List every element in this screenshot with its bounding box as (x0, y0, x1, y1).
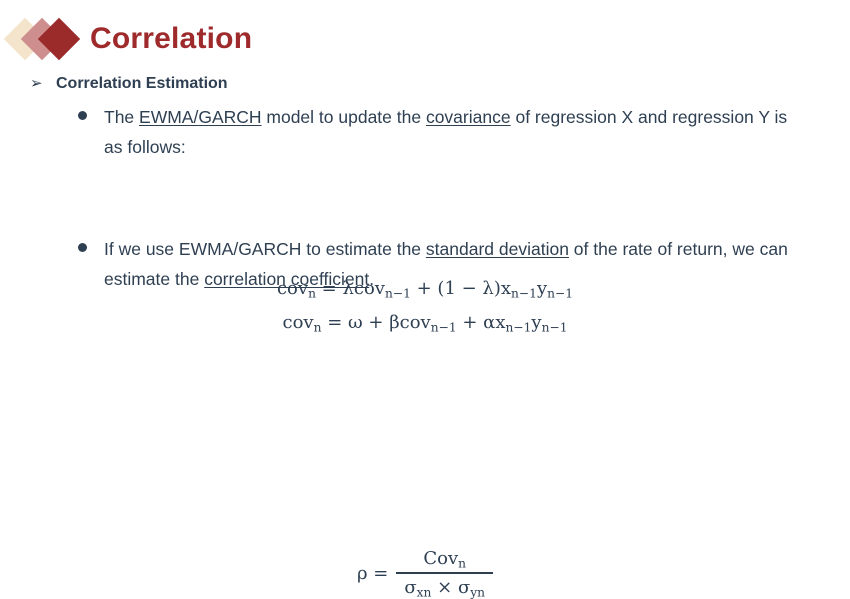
bullet-text-1: The EWMA/GARCH model to update the covar… (104, 102, 794, 162)
bullet-item-1: The EWMA/GARCH model to update the covar… (78, 102, 850, 162)
slide-header: Correlation (0, 8, 252, 70)
slide-body: ➢ Correlation Estimation The EWMA/GARCH … (0, 72, 850, 384)
equation-block-ewma-garch: covn = λcovn−1 + (1 − λ)xn−1yn−1 covn = … (0, 162, 850, 238)
round-bullet-icon (78, 102, 104, 120)
correlation-coefficient-equation: ρ = Covn σxn × σyn (0, 548, 850, 599)
fraction: Covn σxn × σyn (396, 548, 493, 599)
fraction-numerator: Covn (415, 548, 474, 572)
outline-level1-label: Correlation Estimation (56, 72, 228, 96)
fraction-denominator: σxn × σyn (396, 574, 493, 599)
equation-block-correlation: ρ = Covn σxn × σyn (0, 294, 850, 384)
page-title: Correlation (90, 24, 252, 54)
outline-level1-item: ➢ Correlation Estimation (30, 72, 850, 96)
three-diamonds-logo (6, 13, 86, 65)
rho-equals-label: ρ = (357, 563, 388, 584)
arrow-bullet-icon: ➢ (30, 72, 56, 96)
